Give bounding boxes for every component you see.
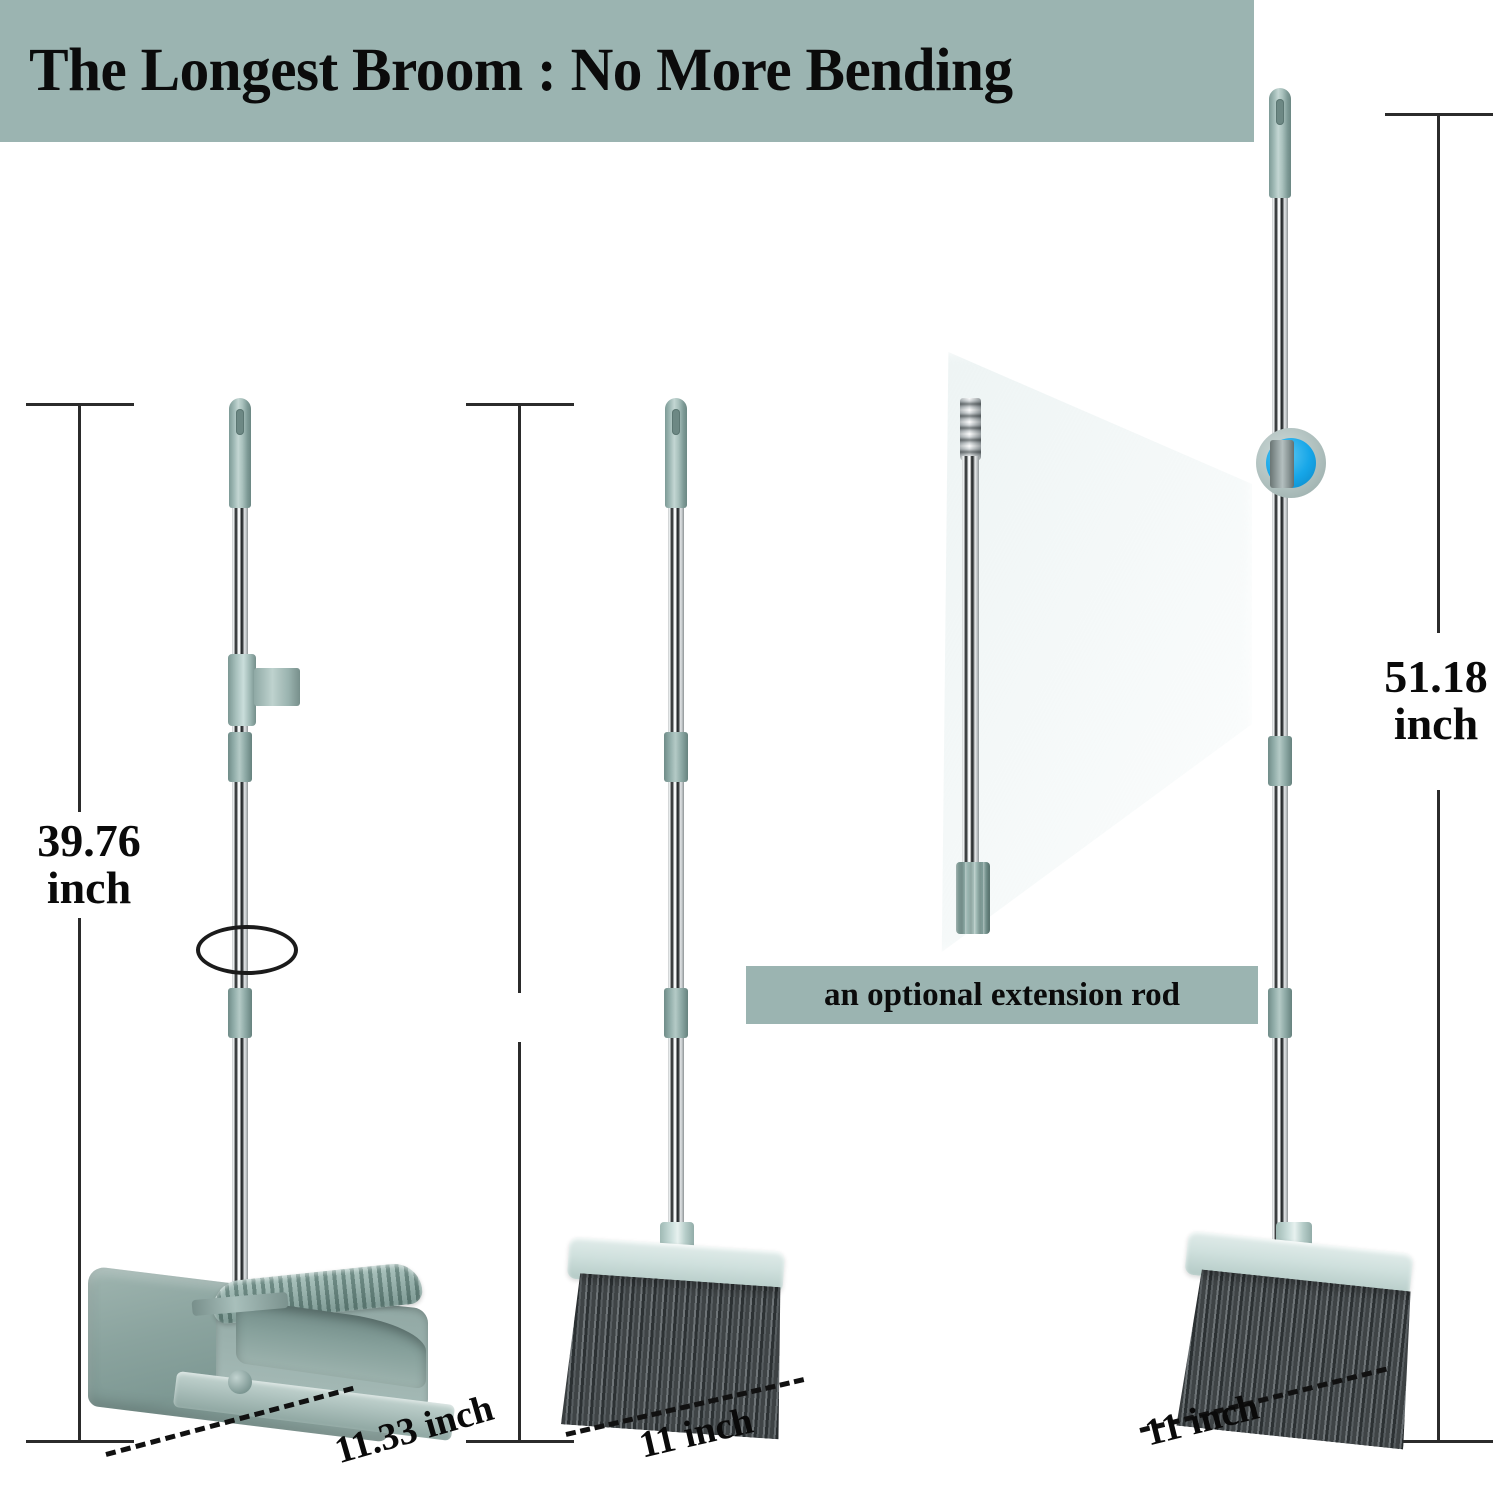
rod-end-cap	[956, 862, 990, 934]
pole-shaft	[1272, 184, 1288, 1242]
rod-shaft	[962, 456, 979, 868]
left-dimension-label: 39.76 inch	[6, 812, 172, 918]
left-dimension-line	[78, 403, 81, 1443]
broom-holder-clip	[228, 654, 256, 726]
product-1-pole-assembly	[232, 398, 252, 1298]
pole-grip-handle	[665, 398, 687, 508]
title-banner: The Longest Broom : No More Bending	[0, 0, 1254, 142]
pole-joint-collar-upper	[228, 732, 252, 782]
pole-joint-collar-lower	[1268, 988, 1292, 1038]
pole-joint-collar-lower	[228, 988, 252, 1038]
middle-dimension-line-upper	[518, 403, 521, 993]
rotation-indicator-ellipse	[196, 925, 298, 975]
left-dimension-unit: inch	[6, 865, 172, 912]
left-dimension-value: 39.76	[6, 818, 172, 865]
rod-threaded-tip	[960, 398, 981, 460]
extension-rod-callout-label: an optional extension rod	[824, 977, 1180, 1014]
product-4-pole-assembly	[1272, 88, 1292, 1238]
pole-shaft	[668, 494, 684, 1234]
broom-holder-clip-arm	[254, 668, 300, 706]
pole-joint-collar-upper	[664, 732, 688, 782]
right-dimension-line-upper	[1437, 113, 1440, 633]
right-dimension-unit: inch	[1352, 701, 1496, 748]
right-dimension-value: 51.18	[1352, 654, 1496, 701]
extension-rod-callout-banner: an optional extension rod	[746, 966, 1258, 1024]
pole-joint-collar-lower	[664, 988, 688, 1038]
dustpan-latch-knob	[228, 1370, 252, 1394]
pole-grip-handle	[1269, 88, 1291, 198]
pole-shaft	[232, 494, 248, 1306]
middle-dimension-line-lower	[518, 1042, 521, 1442]
middle-dimension-bottom-cap	[466, 1440, 574, 1443]
product-2-pole-assembly	[668, 398, 688, 1228]
pole-grip-handle	[229, 398, 251, 508]
pole-joint-collar-upper	[1268, 736, 1292, 786]
page-title: The Longest Broom : No More Bending	[0, 36, 1013, 106]
extension-rod	[962, 398, 984, 938]
right-dimension-label: 51.18 inch	[1352, 648, 1496, 754]
infographic-canvas: The Longest Broom : No More Bending 39.7…	[0, 0, 1496, 1500]
extension-clip-band	[1270, 440, 1294, 488]
